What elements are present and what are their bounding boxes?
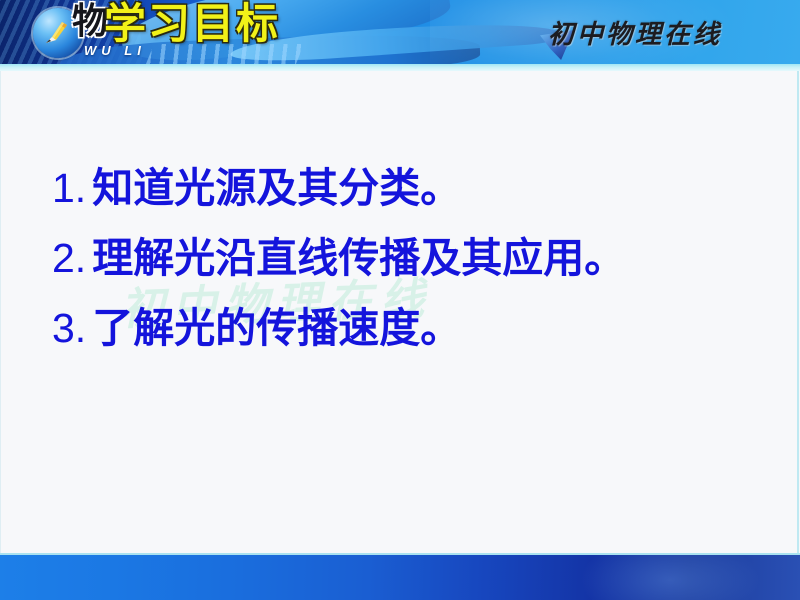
slide-footer-bar	[0, 555, 800, 600]
list-item-text: 了解光的传播速度。	[92, 304, 461, 352]
header-separator-bar	[0, 64, 800, 71]
list-item: 3.了解光的传播速度。	[52, 308, 792, 349]
list-item-text: 知道光源及其分类。	[92, 164, 461, 212]
content-right-edge	[797, 71, 799, 555]
content-left-edge	[0, 71, 1, 555]
learning-goals-list: 1.知道光源及其分类。 2.理解光沿直线传播及其应用。 3.了解光的传播速度。	[52, 168, 792, 378]
header-logo-pinyin: WU LI	[84, 43, 146, 58]
list-item-number: 1.	[52, 165, 86, 211]
header-logo-character: 物	[72, 4, 108, 40]
pen-globe-icon	[42, 16, 74, 48]
list-item: 1.知道光源及其分类。	[52, 168, 792, 209]
list-item-text: 理解光沿直线传播及其应用。	[92, 234, 625, 282]
list-item-number: 2.	[52, 235, 86, 281]
slide-canvas: 物 学习目标 WU LI 初中物理在线 初中物理在线 1.知道光源及其分类。 2…	[0, 0, 800, 600]
list-item: 2.理解光沿直线传播及其应用。	[52, 238, 792, 279]
list-item-number: 3.	[52, 305, 86, 351]
footer-glow-decoration	[580, 555, 760, 600]
header-site-name: 初中物理在线	[548, 14, 722, 51]
slide-header-banner: 物 学习目标 WU LI 初中物理在线	[0, 0, 800, 64]
header-title: 学习目标	[104, 2, 280, 46]
